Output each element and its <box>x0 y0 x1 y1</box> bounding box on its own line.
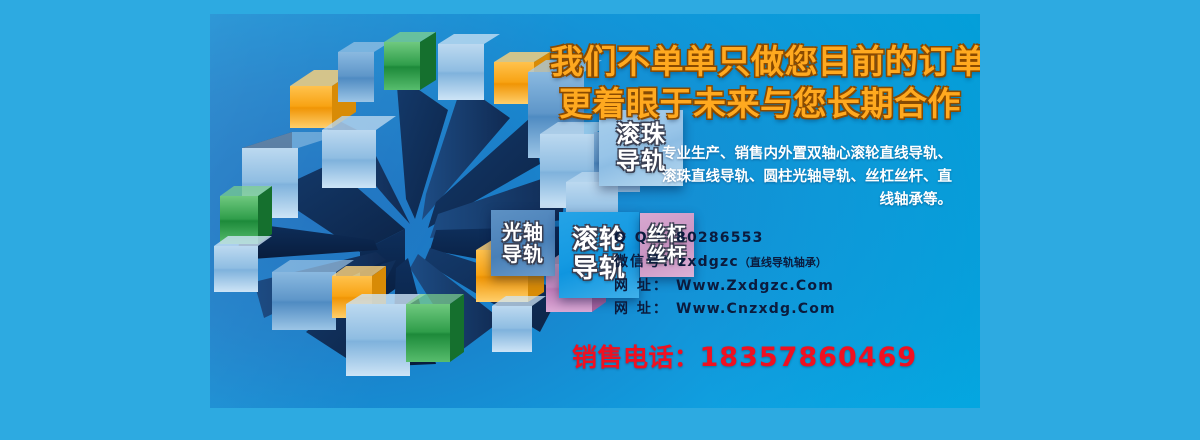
contact-row-website-1: 网 址： Www.Zxdgzc.Com <box>614 275 970 299</box>
description-line-1: 专业生产、销售内外置双轴心滚轮直线导轨、 <box>550 143 952 166</box>
product-label-guangzhou-daogui: 光轴 导轨 <box>491 210 555 276</box>
description-line-3: 线轴承等。 <box>550 189 952 212</box>
description-paragraph: 专业生产、销售内外置双轴心滚轮直线导轨、 滚珠直线导轨、圆柱光轴导轨、丝杠丝杆、… <box>550 143 970 213</box>
contact-value-qq[interactable]: 80286553 <box>676 227 764 251</box>
contact-label-qq: Q Q ： <box>614 227 676 251</box>
sales-phone[interactable]: 销售电话：18357860469 <box>550 338 970 374</box>
sales-phone-label: 销售电话： <box>572 343 700 372</box>
description-line-2: 滚珠直线导轨、圆柱光轴导轨、丝杠丝杆、直 <box>550 166 952 189</box>
contact-label-website-2: 网 址： <box>614 298 676 322</box>
headline-line-1: 我们不单单只做您目前的订单 <box>550 42 970 82</box>
banner-panel: 滚珠 导轨 光轴 导轨 滚轮 导轨 丝杠 丝杆 我们不单单只 <box>210 14 980 408</box>
product-label-line1: 光轴 <box>502 220 544 244</box>
contact-block: Q Q ： 80286553 微信号： zxdgzc （直线导轨轴承） 网 址：… <box>550 227 970 322</box>
sales-phone-number[interactable]: 18357860469 <box>700 342 918 373</box>
contact-value-website-1[interactable]: Www.Zxdgzc.Com <box>676 275 834 299</box>
contact-label-website-1: 网 址： <box>614 275 676 299</box>
contact-note-wechat: （直线导轨轴承） <box>739 254 827 273</box>
contact-row-qq: Q Q ： 80286553 <box>614 227 970 251</box>
banner-stage: 滚珠 导轨 光轴 导轨 滚轮 导轨 丝杠 丝杆 我们不单单只 <box>0 0 1200 440</box>
contact-label-wechat: 微信号： <box>614 251 678 275</box>
headline-line-2: 更着眼于未来与您长期合作 <box>550 84 970 124</box>
headline: 我们不单单只做您目前的订单 更着眼于未来与您长期合作 <box>550 42 970 125</box>
contact-row-wechat: 微信号： zxdgzc （直线导轨轴承） <box>614 251 970 275</box>
contact-value-wechat[interactable]: zxdgzc <box>678 251 739 275</box>
product-label-line2: 导轨 <box>502 242 544 266</box>
contact-row-website-2: 网 址： Www.Cnzxdg.Com <box>614 298 970 322</box>
contact-value-website-2[interactable]: Www.Cnzxdg.Com <box>676 298 836 322</box>
text-column: 我们不单单只做您目前的订单 更着眼于未来与您长期合作 专业生产、销售内外置双轴心… <box>550 42 970 382</box>
